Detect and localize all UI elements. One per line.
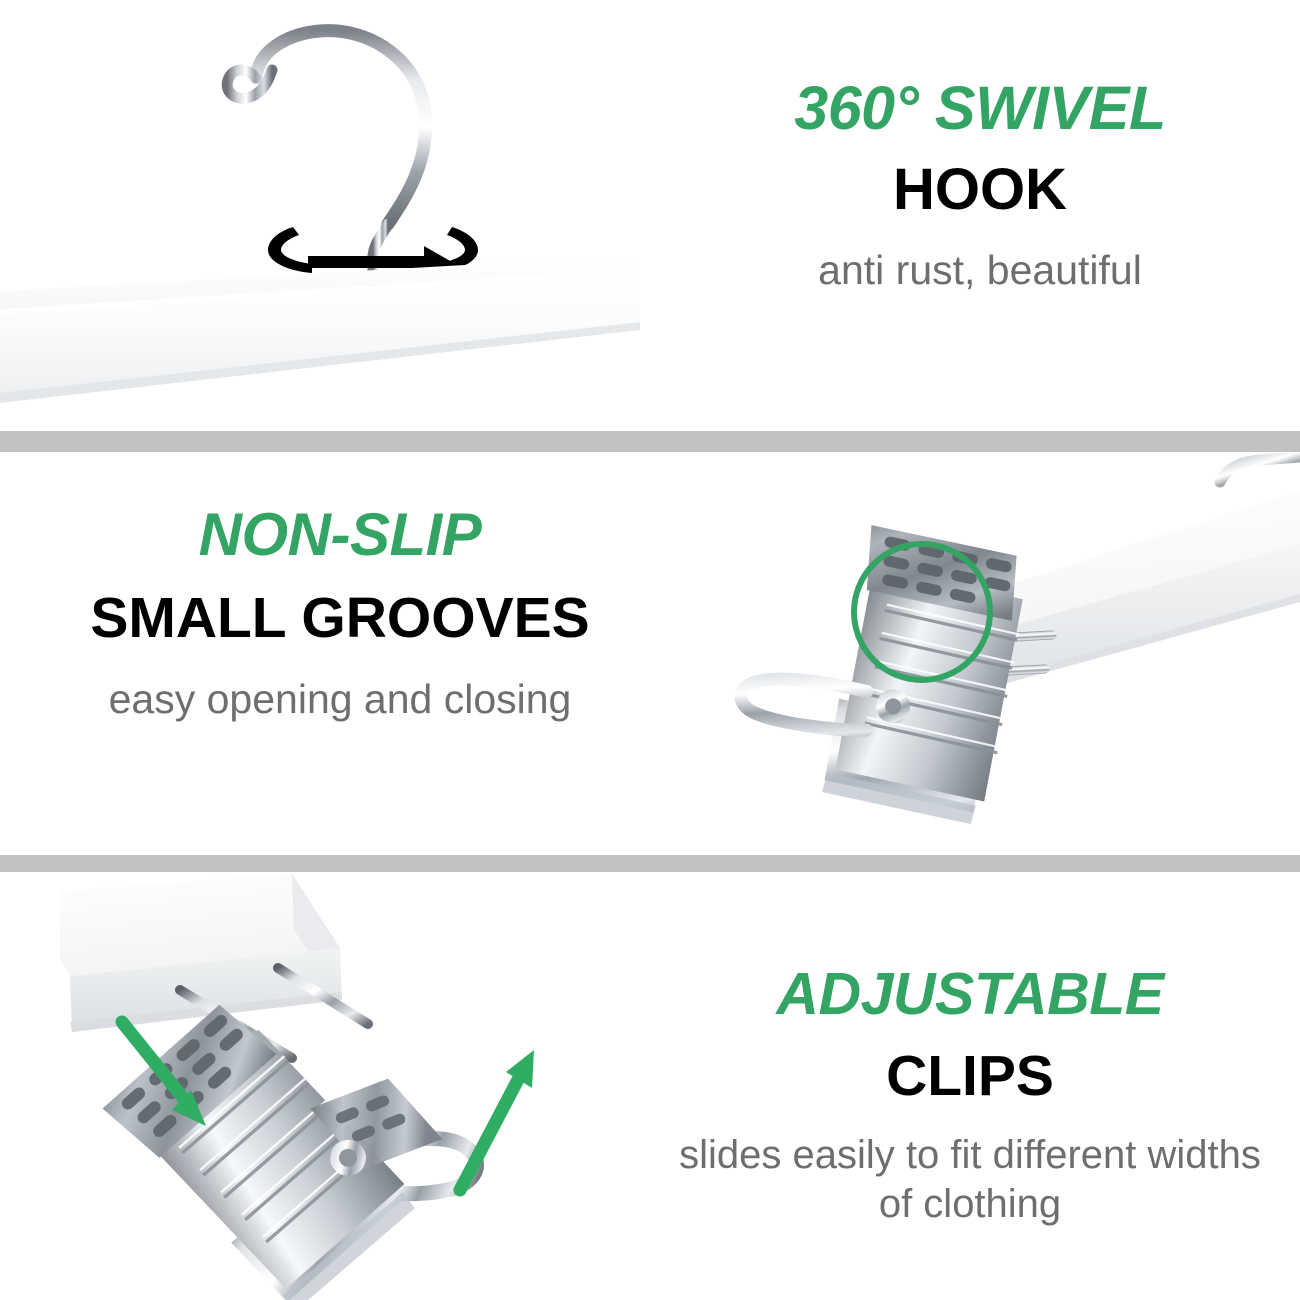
subhead-clips: CLIPS xyxy=(660,1048,1280,1105)
hanger-hook-wire xyxy=(1220,457,1300,482)
feature-text-swivel-hook: 360° SWIVEL HOOK anti rust, beautiful xyxy=(700,78,1260,295)
feature-text-non-slip: NON-SLIP SMALL GROOVES easy opening and … xyxy=(20,505,660,724)
headline-adjustable: ADJUSTABLE xyxy=(660,965,1280,1024)
feature-panel-swivel-hook: 360° SWIVEL HOOK anti rust, beautiful xyxy=(0,0,1300,432)
feature-panel-non-slip-grooves: NON-SLIP SMALL GROOVES easy opening and … xyxy=(0,452,1300,855)
slide-arrow-up-icon xyxy=(460,1050,534,1190)
headline-swivel: 360° SWIVEL xyxy=(700,78,1260,139)
caption-clips: slides easily to fit different widths of… xyxy=(660,1131,1280,1229)
hanger-bar xyxy=(0,255,640,404)
hook-tip xyxy=(227,70,272,98)
caption-hook: anti rust, beautiful xyxy=(700,245,1260,295)
clip-slide-photo xyxy=(60,872,700,1300)
clip-grooves-photo xyxy=(700,452,1300,855)
subhead-hook: HOOK xyxy=(700,161,1260,219)
hanger-bar xyxy=(972,490,1300,687)
swivel-hook-photo xyxy=(0,0,720,432)
feature-panel-adjustable-clips: ADJUSTABLE CLIPS slides easily to fit di… xyxy=(0,872,1300,1300)
subhead-small-grooves: SMALL GROOVES xyxy=(20,590,660,647)
product-feature-infographic: 360° SWIVEL HOOK anti rust, beautiful NO… xyxy=(0,0,1300,1300)
panel-divider-top xyxy=(0,431,1300,452)
feature-text-adjustable: ADJUSTABLE CLIPS slides easily to fit di… xyxy=(660,965,1280,1229)
hook-wire xyxy=(256,31,426,224)
headline-non-slip: NON-SLIP xyxy=(20,505,660,565)
caption-grooves: easy opening and closing xyxy=(20,674,660,724)
